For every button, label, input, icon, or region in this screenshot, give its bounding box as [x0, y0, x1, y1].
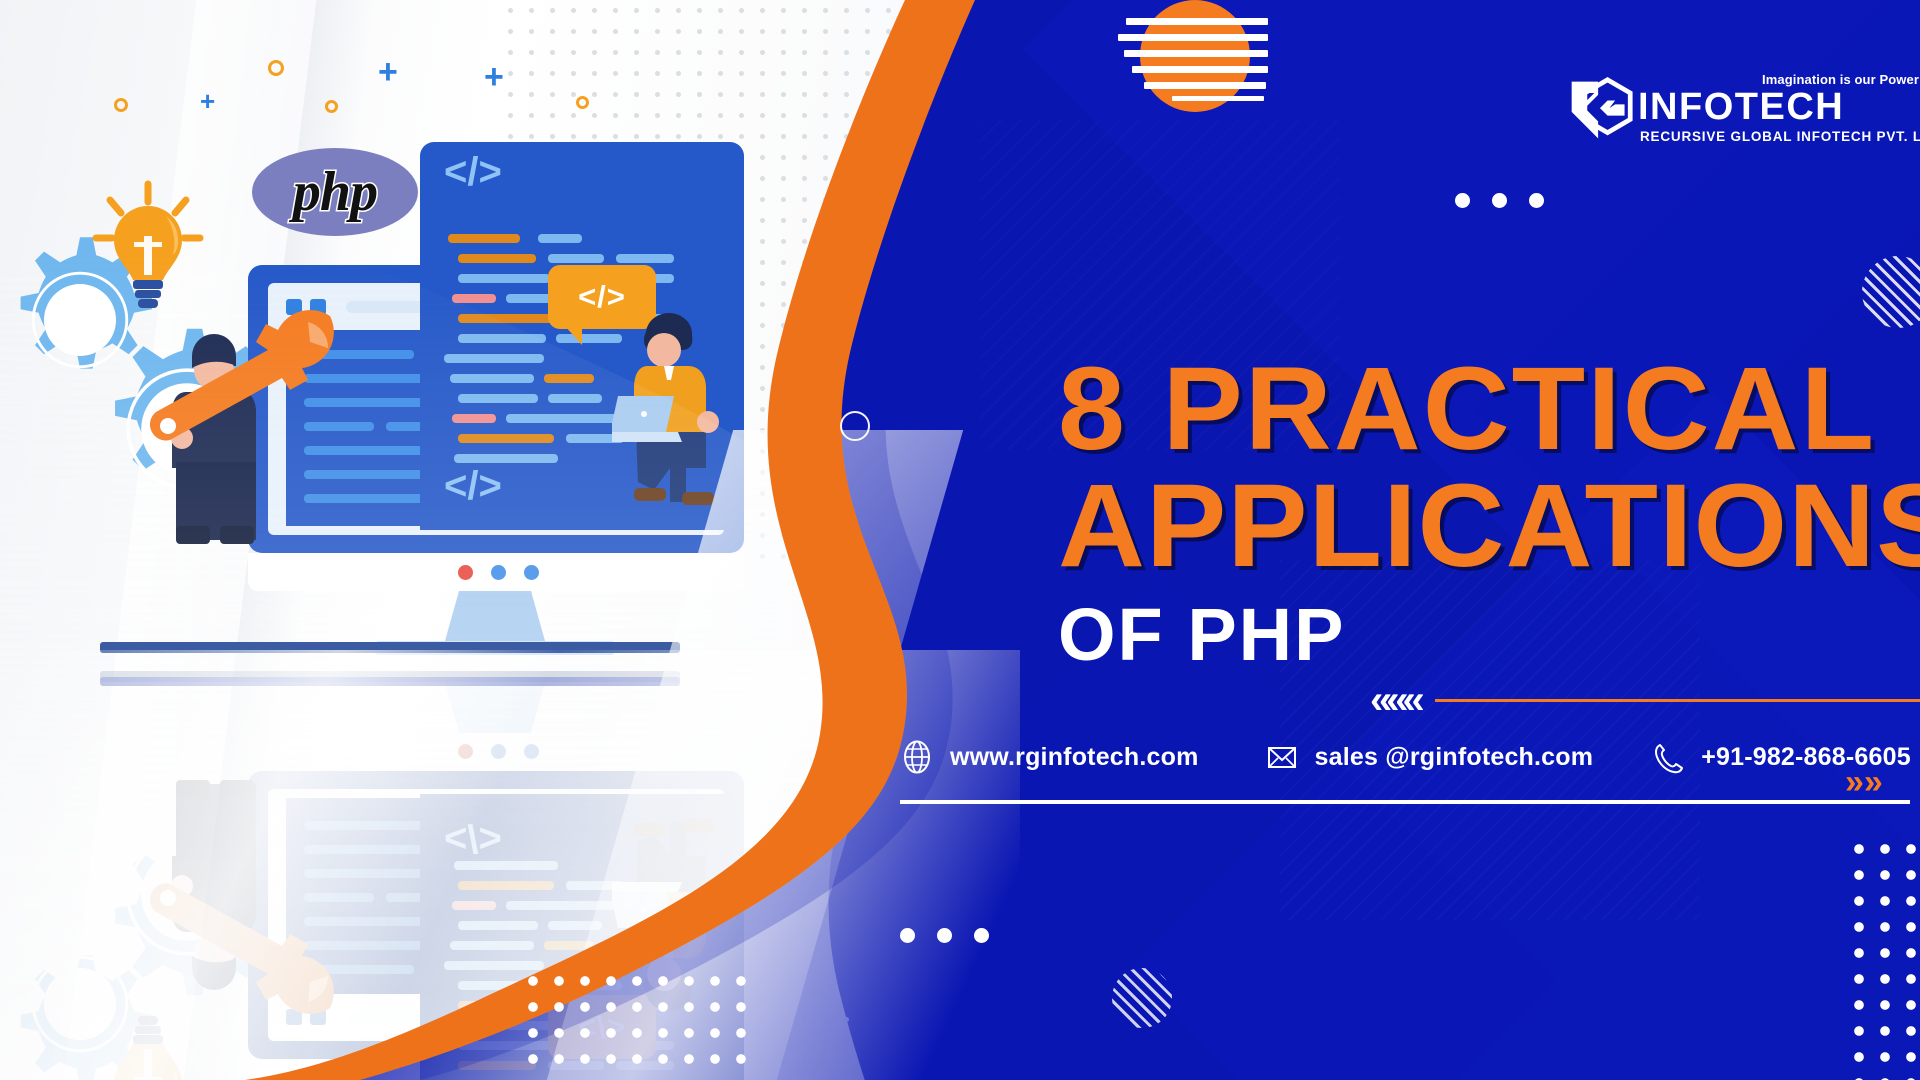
headline-line-2: APPLICATIONS — [1058, 472, 1894, 581]
circle-outline-decor — [576, 96, 589, 109]
envelope-icon — [1265, 740, 1299, 774]
plus-decor-icon: + — [378, 55, 398, 89]
circle-outline-decor — [325, 100, 338, 113]
code-tag-bottom: </> — [444, 464, 502, 509]
striped-circle-bottom — [1112, 968, 1172, 1028]
floor-line — [100, 642, 680, 653]
logo-subtitle: RECURSIVE GLOBAL INFOTECH PVT. LTD. — [1640, 129, 1920, 144]
tri-dots-bottom — [900, 928, 989, 943]
circle-outline-decor — [268, 60, 284, 76]
contact-bar: www.rginfotech.com sales @rginfotech.com… — [900, 740, 1911, 774]
code-tag-top: </> — [444, 150, 502, 195]
headline-line-1: 8 PRACTICAL — [1058, 355, 1894, 464]
monitor-stand — [445, 591, 545, 641]
company-logo[interactable]: Imagination is our Power INFOTECH RECURS… — [1566, 72, 1866, 150]
plus-decor-icon: + — [200, 88, 215, 114]
plus-decor-icon: + — [484, 60, 504, 94]
double-chevron-right-icon: »» — [1845, 765, 1883, 799]
contact-email-label: sales @rginfotech.com — [1315, 743, 1594, 772]
monitor-indicator-dots — [458, 565, 539, 580]
logo-tagline: Imagination is our Power — [1762, 72, 1919, 87]
phone-icon — [1651, 740, 1685, 774]
chevron-left-icon: « — [1403, 680, 1425, 720]
wrench-icon — [140, 300, 350, 450]
contact-item-email[interactable]: sales @rginfotech.com — [1265, 740, 1594, 774]
php-logo: php — [252, 148, 418, 236]
headline-group: 8 PRACTICAL APPLICATIONS OF PHP — [1058, 355, 1878, 672]
sun-stripe-lines — [1118, 12, 1268, 100]
contact-website-label: www.rginfotech.com — [950, 743, 1199, 772]
logo-name: INFOTECH — [1638, 86, 1844, 129]
circle-outline-decor — [114, 98, 128, 112]
tri-dots-top — [1455, 193, 1544, 208]
globe-icon — [900, 740, 934, 774]
circle-outline — [840, 411, 870, 441]
rg-hex-logo-icon — [1566, 76, 1634, 144]
reflection-floor-line — [100, 677, 680, 686]
chevron-rule-group: « « « — [1370, 680, 1920, 720]
contact-item-website[interactable]: www.rginfotech.com — [900, 740, 1199, 774]
contact-underline — [900, 800, 1910, 804]
dot-grid-right — [1846, 836, 1920, 1080]
php-logo-text: php — [293, 160, 377, 224]
dot-grid-bottom-left — [520, 968, 760, 1080]
headline-subtitle: OF PHP — [1058, 598, 1878, 672]
orange-rule — [1435, 699, 1920, 702]
banner-poster: + + + </> — [0, 0, 1920, 1080]
